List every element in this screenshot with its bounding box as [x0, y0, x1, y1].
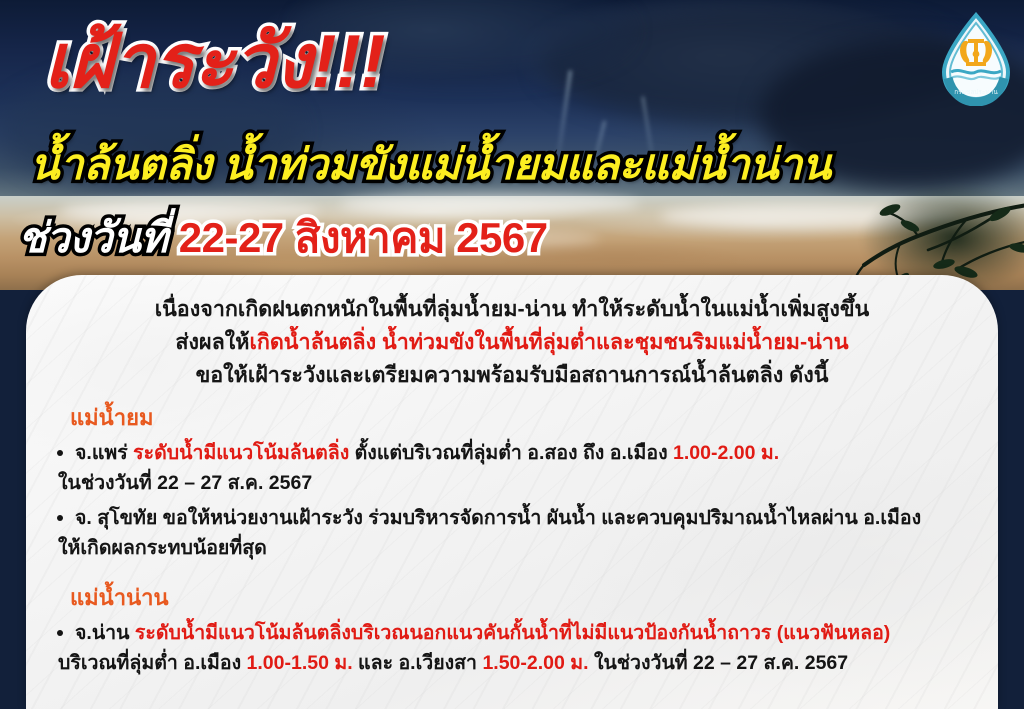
- water-foam: [340, 194, 640, 214]
- section-heading-yom-river: แม่น้ำยม: [70, 403, 976, 433]
- bullet-highlight: ระดับน้ำมีแนวโน้มล้นตลิ่ง: [133, 442, 349, 464]
- intro-line-2-prefix: ส่งผลให้: [175, 330, 249, 354]
- bullet-line-continued: บริเวณที่ลุ่มต่ำ อ.เมือง 1.00-1.50 ม. แล…: [58, 648, 976, 678]
- storm-cloud: [0, 70, 300, 190]
- bullet-highlight-measure: 1.00-2.00 ม.: [673, 442, 779, 464]
- bullet-line-continued: ให้เกิดผลกระทบน้อยที่สุด: [58, 533, 976, 563]
- bullet-highlight-measure: 1.50-2.00 ม.: [482, 652, 588, 674]
- bullet-text: ตั้งแต่บริเวณที่ลุ่มต่ำ อ.สอง ถึง อ.เมือ…: [349, 442, 673, 464]
- water-foam: [420, 232, 600, 246]
- bullet-dot-icon: [57, 450, 63, 456]
- bullet-text: จ.น่าน: [75, 622, 135, 644]
- bullet-line-continued: ในช่วงวันที่ 22 – 27 ส.ค. 2567: [58, 468, 976, 498]
- hero-background-photo: [0, 0, 1024, 290]
- bullet-text: และ อ.เวียงสา: [353, 652, 483, 674]
- bullet-line: จ. สุโขทัย ขอให้หน่วยงานเฝ้าระวัง ร่วมบร…: [75, 503, 976, 533]
- flood-warning-poster: กรมชลประทาน เฝ้าระวัง!!! น้ำล้นตลิ่ง น้ำ…: [0, 0, 1024, 709]
- bullet-line: จ.แพร่ ระดับน้ำมีแนวโน้มล้นตลิ่ง ตั้งแต่…: [75, 438, 976, 468]
- list-item: จ. สุโขทัย ขอให้หน่วยงานเฝ้าระวัง ร่วมบร…: [48, 503, 976, 563]
- water-foam: [60, 200, 320, 222]
- intro-paragraph: เนื่องจากเกิดฝนตกหนักในพื้นที่ลุ่มน้ำยม-…: [48, 293, 976, 392]
- bullet-dot-icon: [57, 515, 63, 521]
- bullet-dot-icon: [57, 630, 63, 636]
- bullet-highlight: ระดับน้ำมีแนวโน้มล้นตลิ่งบริเวณนอกแนวคัน…: [135, 622, 890, 644]
- bullet-line: จ.น่าน ระดับน้ำมีแนวโน้มล้นตลิ่งบริเวณนอ…: [75, 618, 976, 648]
- intro-line-2: ส่งผลให้เกิดน้ำล้นตลิ่ง น้ำท่วมขังในพื้น…: [48, 326, 976, 359]
- bullet-text: จ.แพร่: [75, 442, 133, 464]
- content-card: เนื่องจากเกิดฝนตกหนักในพื้นที่ลุ่มน้ำยม-…: [26, 275, 998, 709]
- intro-line-1: เนื่องจากเกิดฝนตกหนักในพื้นที่ลุ่มน้ำยม-…: [48, 293, 976, 326]
- intro-line-3: ขอให้เฝ้าระวังและเตรียมความพร้อมรับมือสถ…: [48, 359, 976, 392]
- tree-branch-silhouette: [704, 170, 1024, 290]
- bullet-list-nan-river: จ.น่าน ระดับน้ำมีแนวโน้มล้นตลิ่งบริเวณนอ…: [48, 618, 976, 678]
- bullet-list-yom-river: จ.แพร่ ระดับน้ำมีแนวโน้มล้นตลิ่ง ตั้งแต่…: [48, 438, 976, 563]
- water-droplet-logo-icon: กรมชลประทาน: [938, 12, 1014, 106]
- section-heading-nan-river: แม่น้ำน่าน: [70, 583, 976, 613]
- svg-text:กรมชลประทาน: กรมชลประทาน: [954, 89, 998, 96]
- list-item: จ.น่าน ระดับน้ำมีแนวโน้มล้นตลิ่งบริเวณนอ…: [48, 618, 976, 678]
- list-item: จ.แพร่ ระดับน้ำมีแนวโน้มล้นตลิ่ง ตั้งแต่…: [48, 438, 976, 498]
- bullet-highlight-measure: 1.00-1.50 ม.: [247, 652, 353, 674]
- intro-line-2-highlight: เกิดน้ำล้นตลิ่ง น้ำท่วมขังในพื้นที่ลุ่มต…: [249, 330, 848, 354]
- bullet-text: ในช่วงวันที่ 22 – 27 ส.ค. 2567: [589, 652, 849, 674]
- bullet-text: บริเวณที่ลุ่มต่ำ อ.เมือง: [58, 652, 247, 674]
